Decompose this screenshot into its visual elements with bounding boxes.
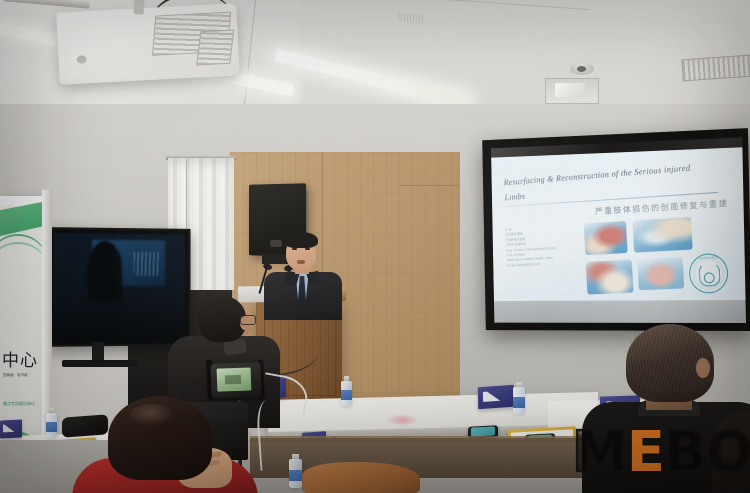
dome-camera-icon (570, 63, 594, 75)
watermark-letter-m: M (572, 420, 627, 485)
slide-surgical-photo-3 (586, 260, 634, 295)
water-bottle (289, 454, 302, 488)
table-pink-mark (386, 414, 418, 426)
projector-mount-bracket (134, 0, 145, 15)
hospital-logo-icon: 宁波市第六医院 (688, 253, 729, 294)
hospital-logo-label: 宁波市第六医院 (689, 255, 726, 267)
presenter-mouth (297, 260, 305, 264)
water-bottle (341, 376, 352, 406)
banner-green-block (0, 202, 42, 236)
slide-byline-block: 王 伟 主任医师 教授 宁波市第六医院 手外科 显微外科 Dept. of Ha… (505, 224, 582, 269)
slide-title-line-1: Resurfacing & Reconstruction of the Seri… (503, 163, 690, 188)
watermark-letter-e: E (627, 420, 664, 485)
monitor-text-blur (134, 252, 160, 276)
projection-screen-surface: Resurfacing & Reconstruction of the Seri… (491, 137, 746, 323)
attendee-left-head (198, 296, 246, 342)
monitor-base (62, 360, 138, 367)
slide-surgical-photo-2 (632, 217, 692, 253)
conference-room-photo: Resurfacing & Reconstruction of the Seri… (0, 0, 750, 493)
slide-content: Resurfacing & Reconstruction of the Seri… (491, 147, 745, 301)
watermark-letter-b: B (664, 420, 706, 485)
rollup-banner: 中心 国家级 · 省市级 重点专科建设单位 (0, 196, 42, 448)
attendee-foreground-hair-highlight (130, 404, 174, 426)
bottle-label (289, 470, 302, 482)
attendee-left-glasses-icon (240, 315, 256, 325)
name-card-tent (478, 385, 514, 409)
ceiling-light-strip (274, 48, 467, 108)
monitor-figure-head (96, 241, 114, 258)
wood-panel-seam-secondary (400, 185, 460, 186)
slide-photo-grid: 宁波市第六医院 (584, 215, 727, 298)
water-bottle (513, 382, 525, 414)
banner-subtext-1: 国家级 · 省市级 (3, 372, 41, 378)
attendee-right-ear (696, 358, 710, 378)
attendee-foreground-woman (100, 396, 250, 493)
bottle-label (341, 390, 352, 400)
water-bottle (46, 408, 57, 438)
bottle-label (513, 397, 525, 408)
charging-cable-lower (256, 399, 289, 471)
ceiling-air-vent-icon (681, 55, 750, 82)
name-card-tent (0, 419, 22, 438)
slide-bottom-band (494, 300, 746, 323)
banner-subtext-2: 重点专科建设单位 (3, 400, 41, 407)
projector-lens-icon (77, 55, 87, 64)
mebo-watermark: MEBO (572, 424, 744, 484)
recessed-light-icon (545, 78, 599, 104)
ceiling-vent-small-icon (398, 13, 425, 25)
slide-surgical-photo-4 (637, 257, 684, 290)
projector-vent-grille-secondary (196, 29, 234, 65)
bottle-label (46, 422, 57, 432)
ceiling-projector (56, 3, 240, 84)
presenter-hair (284, 232, 318, 248)
presenter-eye-left (292, 248, 297, 250)
smartphone-screen (217, 367, 252, 391)
monitor-picture (53, 233, 184, 340)
watermark-letter-o: O (706, 420, 750, 485)
slide-surgical-photo-1 (584, 221, 628, 255)
projection-screen: Resurfacing & Reconstruction of the Seri… (482, 128, 750, 331)
presenter-eye-right (305, 248, 310, 250)
brown-bag (302, 462, 420, 493)
slide-title-line-2: Limbs (504, 191, 525, 202)
smartphone-on-tripod (210, 362, 261, 398)
banner-heading: 中心 (0, 346, 44, 371)
ceiling-seam-secondary (330, 0, 589, 10)
